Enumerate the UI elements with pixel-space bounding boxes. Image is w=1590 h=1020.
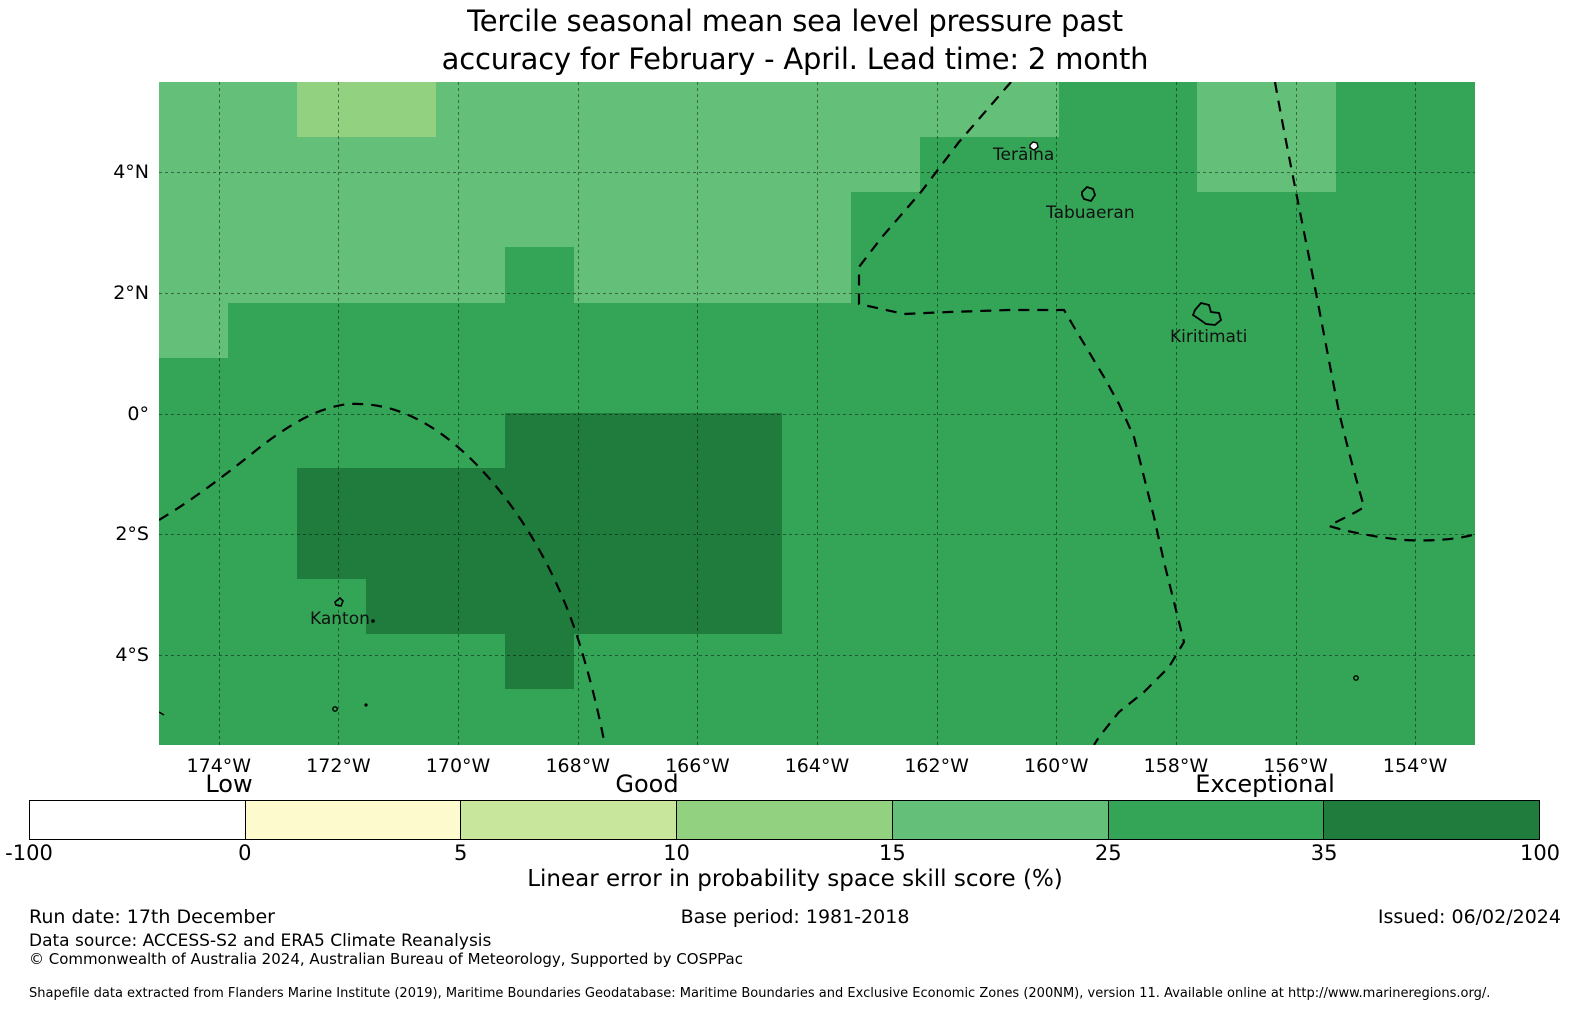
heatmap-cell (1267, 524, 1337, 580)
heatmap-cell (436, 137, 506, 193)
heatmap-cell (1059, 689, 1129, 745)
heatmap-cell (505, 247, 575, 303)
heatmap-cell (574, 524, 644, 580)
heatmap-cell (366, 192, 436, 248)
heatmap-cell (366, 634, 436, 690)
heatmap-cell (297, 634, 367, 690)
colorbar-swatch[interactable] (1323, 801, 1539, 839)
heatmap-cell (851, 524, 921, 580)
heatmap-cell (436, 247, 506, 303)
heatmap-cell (713, 524, 783, 580)
heatmap-cell (643, 247, 713, 303)
heatmap-cell (505, 689, 575, 745)
heatmap-cell (1336, 634, 1406, 690)
heatmap-cell (1267, 468, 1337, 524)
heatmap-cell (297, 358, 367, 414)
heatmap-cell (1197, 82, 1267, 138)
heatmap-cell (1267, 82, 1337, 138)
footer-shapefile-credit: Shapefile data extracted from Flanders M… (29, 986, 1490, 1001)
heatmap-cell (574, 689, 644, 745)
heatmap-cell (643, 192, 713, 248)
heatmap-cell (1128, 579, 1198, 635)
heatmap-cell (366, 413, 436, 469)
heatmap-cell (1059, 82, 1129, 138)
heatmap-cell (505, 303, 575, 359)
heatmap-cell (643, 358, 713, 414)
colorbar-axis-label: Linear error in probability space skill … (0, 866, 1590, 892)
graticule-parallel (159, 414, 1475, 415)
heatmap-cell (1128, 358, 1198, 414)
heatmap-cell (851, 137, 921, 193)
heatmap-cell (228, 468, 298, 524)
heatmap-cell (920, 579, 990, 635)
heatmap-cell (366, 303, 436, 359)
colorbar-swatch[interactable] (30, 801, 245, 839)
heatmap-cell (920, 689, 990, 745)
heatmap-cell (1128, 524, 1198, 580)
heatmap-cell (297, 689, 367, 745)
heatmap-cell (1336, 413, 1406, 469)
heatmap-cell (228, 303, 298, 359)
heatmap-cell (228, 358, 298, 414)
heatmap-cell (990, 524, 1060, 580)
heatmap-cell (851, 579, 921, 635)
heatmap-cell (643, 137, 713, 193)
heatmap-cell (1336, 82, 1406, 138)
colorbar[interactable]: -1000510152535100 (29, 800, 1540, 840)
heatmap-cell (505, 468, 575, 524)
graticule-parallel (159, 293, 1475, 294)
heatmap-cell (366, 524, 436, 580)
heatmap-cell (1197, 634, 1267, 690)
heatmap-cell (574, 247, 644, 303)
heatmap-cell (574, 82, 644, 138)
graticule-parallel (159, 655, 1475, 656)
heatmap-cell (366, 468, 436, 524)
heatmap-cell (1059, 579, 1129, 635)
heatmap-cell (1059, 247, 1129, 303)
heatmap-cell (920, 524, 990, 580)
heatmap-cell (713, 247, 783, 303)
heatmap-cell (574, 192, 644, 248)
heatmap-cell (366, 82, 436, 138)
heatmap-cell (920, 468, 990, 524)
footer-base-period: Base period: 1981-2018 (0, 906, 1590, 928)
heatmap-cell (920, 82, 990, 138)
heatmap-cell (436, 303, 506, 359)
heatmap-cell (851, 358, 921, 414)
heatmap-cell (574, 468, 644, 524)
heatmap-cell (851, 192, 921, 248)
heatmap-cell (643, 634, 713, 690)
latitude-tick-label: 2°S (19, 525, 149, 544)
heatmap-cell (1128, 192, 1198, 248)
colorbar-category-label: Exceptional (1115, 771, 1415, 797)
heatmap-cell (1336, 247, 1406, 303)
heatmap-cell (574, 303, 644, 359)
heatmap-cell (713, 689, 783, 745)
heatmap-cell (851, 413, 921, 469)
heatmap-cell (1336, 579, 1406, 635)
heatmap-cell (505, 82, 575, 138)
heatmap-cell (366, 689, 436, 745)
page-title: Tercile seasonal mean sea level pressure… (0, 2, 1590, 78)
heatmap-cell (505, 413, 575, 469)
heatmap-cell (228, 137, 298, 193)
colorbar-swatch[interactable] (245, 801, 461, 839)
heatmap-cell (1197, 689, 1267, 745)
latitude-tick-label: 0° (19, 405, 149, 424)
heatmap-cell (1128, 413, 1198, 469)
heatmap-cell (1197, 137, 1267, 193)
heatmap-cell (920, 303, 990, 359)
graticule-parallel (159, 172, 1475, 173)
heatmap-cell (297, 524, 367, 580)
latitude-tick-label: 4°N (19, 163, 149, 182)
heatmap-cell (1059, 468, 1129, 524)
heatmap-cell (1197, 247, 1267, 303)
page-title-line-2: accuracy for February - April. Lead time… (0, 40, 1590, 78)
heatmap-cell (297, 247, 367, 303)
heatmap-cell (436, 689, 506, 745)
heatmap-cell (297, 303, 367, 359)
heatmap-cell (1336, 192, 1406, 248)
heatmap-cell (297, 192, 367, 248)
heatmap-cell (1197, 579, 1267, 635)
heatmap-cell (297, 82, 367, 138)
heatmap-cell (1059, 303, 1129, 359)
colorbar-category-label: Good (497, 771, 797, 797)
heatmap-cell (436, 579, 506, 635)
heatmap-cell (1267, 634, 1337, 690)
heatmap-cell (574, 634, 644, 690)
heatmap-cell (643, 413, 713, 469)
heatmap-cell (1128, 137, 1198, 193)
heatmap-cell (643, 524, 713, 580)
heatmap-cell (920, 137, 990, 193)
latitude-tick-label: 4°S (19, 646, 149, 665)
heatmap-cell (366, 579, 436, 635)
heatmap-cell (713, 634, 783, 690)
heatmap-cell (990, 303, 1060, 359)
heatmap-cell (436, 358, 506, 414)
heatmap-cell (436, 82, 506, 138)
heatmap-cell (990, 579, 1060, 635)
heatmap-cell (505, 579, 575, 635)
colorbar-swatches[interactable] (29, 800, 1540, 840)
heatmap-cell (366, 247, 436, 303)
colorbar-swatch[interactable] (460, 801, 676, 839)
heatmap-cell (990, 413, 1060, 469)
heatmap-cell (990, 247, 1060, 303)
heatmap-cell (1128, 468, 1198, 524)
heatmap-cell (990, 82, 1060, 138)
heatmap-cell (1336, 689, 1406, 745)
heatmap-cell (505, 358, 575, 414)
heatmap-cell (1336, 358, 1406, 414)
heatmap-cell (1197, 413, 1267, 469)
footer-copyright: © Commonwealth of Australia 2024, Austra… (29, 950, 743, 968)
heatmap-cell (228, 413, 298, 469)
heatmap-cell (1197, 192, 1267, 248)
heatmap-cell (436, 413, 506, 469)
heatmap-cell (366, 358, 436, 414)
heatmap-cell (1336, 524, 1406, 580)
colorbar-tick-label: 10 (607, 842, 747, 864)
heatmap-cell (990, 689, 1060, 745)
heatmap-cell (574, 358, 644, 414)
heatmap-cell (1059, 413, 1129, 469)
heatmap-cell (228, 192, 298, 248)
heatmap-cell (713, 82, 783, 138)
colorbar-tick-label: 15 (822, 842, 962, 864)
heatmap-cell (1267, 192, 1337, 248)
heatmap-cell (1128, 82, 1198, 138)
colorbar-tick-label: 25 (1038, 842, 1178, 864)
colorbar-tick-label: -100 (0, 842, 99, 864)
heatmap-cell (505, 524, 575, 580)
heatmap-cell (851, 303, 921, 359)
heatmap-cell (920, 413, 990, 469)
heatmap-cell (1197, 524, 1267, 580)
heatmap-cell (1336, 468, 1406, 524)
heatmap-cell (436, 524, 506, 580)
heatmap-cell (1059, 524, 1129, 580)
heatmap-cell (851, 82, 921, 138)
heatmap-cell (1128, 689, 1198, 745)
longitude-tick-label: 160°W (996, 757, 1116, 776)
heatmap-cell (990, 358, 1060, 414)
heatmap-cell (1267, 358, 1337, 414)
colorbar-swatch[interactable] (1108, 801, 1324, 839)
heatmap-cell (643, 468, 713, 524)
heatmap-cell (713, 137, 783, 193)
heatmap-cell (851, 468, 921, 524)
heatmap-cell (1059, 634, 1129, 690)
heatmap-cell (297, 413, 367, 469)
heatmap-cell (228, 579, 298, 635)
colorbar-tick-label: 35 (1254, 842, 1394, 864)
heatmap-cell (643, 689, 713, 745)
longitude-tick-label: 162°W (877, 757, 997, 776)
heatmap-cell (297, 468, 367, 524)
heatmap-cell (990, 634, 1060, 690)
heatmap-cell (228, 634, 298, 690)
heatmap-cell (1197, 468, 1267, 524)
heatmap-cell (436, 468, 506, 524)
footer-data-source: Data source: ACCESS-S2 and ERA5 Climate … (29, 931, 491, 951)
heatmap-cell (851, 634, 921, 690)
heatmap-cell (1128, 634, 1198, 690)
island-label: Terāina (993, 145, 1054, 165)
heatmap-cell (505, 192, 575, 248)
heatmap-cell (1336, 137, 1406, 193)
heatmap-cell (1267, 247, 1337, 303)
heatmap-cell (366, 137, 436, 193)
heatmap-cell (436, 192, 506, 248)
heatmap-cell (228, 82, 298, 138)
heatmap-cell (713, 579, 783, 635)
heatmap-cell (1059, 137, 1129, 193)
heatmap-cell (1267, 579, 1337, 635)
heatmap-cell (713, 358, 783, 414)
heatmap-cell (713, 413, 783, 469)
colorbar-category-label: Low (79, 771, 379, 797)
heatmap-cell (1059, 358, 1129, 414)
heatmap-cell (228, 247, 298, 303)
island-label: Kiritimati (1170, 327, 1247, 347)
map-plot-area[interactable]: TerāinaTabuaeranKiritimatiKanton (159, 82, 1475, 745)
heatmap-cell (505, 137, 575, 193)
heatmap-cell (1267, 689, 1337, 745)
heatmap-cell (1267, 303, 1337, 359)
heatmap-cell (643, 82, 713, 138)
heatmap-cell (436, 634, 506, 690)
heatmap-cell (713, 192, 783, 248)
heatmap-cell (297, 137, 367, 193)
heatmap-cell (1128, 247, 1198, 303)
colorbar-tick-label: 100 (1470, 842, 1590, 864)
heatmap-cell (713, 468, 783, 524)
island-label: Tabuaeran (1046, 203, 1135, 223)
heatmap-cell (851, 689, 921, 745)
heatmap-cell (1197, 358, 1267, 414)
heatmap-cell (228, 689, 298, 745)
heatmap-cell (920, 634, 990, 690)
latitude-tick-label: 2°N (19, 284, 149, 303)
heatmap-cell (713, 303, 783, 359)
heatmap-cell (228, 524, 298, 580)
colorbar-tick-label: 5 (391, 842, 531, 864)
heatmap-cell (1267, 413, 1337, 469)
heatmap-cell (920, 192, 990, 248)
heatmap-cell (1267, 137, 1337, 193)
heatmap-cell (643, 303, 713, 359)
heatmap-cell (574, 413, 644, 469)
heatmap-cell (851, 247, 921, 303)
heatmap-cell (574, 137, 644, 193)
colorbar-swatch[interactable] (676, 801, 892, 839)
heatmap-cell (574, 579, 644, 635)
heatmap-cell (505, 634, 575, 690)
colorbar-tick-label: 0 (175, 842, 315, 864)
heatmap-cell (990, 468, 1060, 524)
heatmap-cell (920, 247, 990, 303)
heatmap-cell (920, 358, 990, 414)
island-label: Kanton (310, 609, 370, 629)
colorbar-swatch[interactable] (892, 801, 1108, 839)
graticule-parallel (159, 534, 1475, 535)
heatmap-cell (643, 579, 713, 635)
heatmap-cell (1336, 303, 1406, 359)
footer-issued-date: Issued: 06/02/2024 (1378, 906, 1561, 928)
page-title-line-1: Tercile seasonal mean sea level pressure… (0, 2, 1590, 40)
